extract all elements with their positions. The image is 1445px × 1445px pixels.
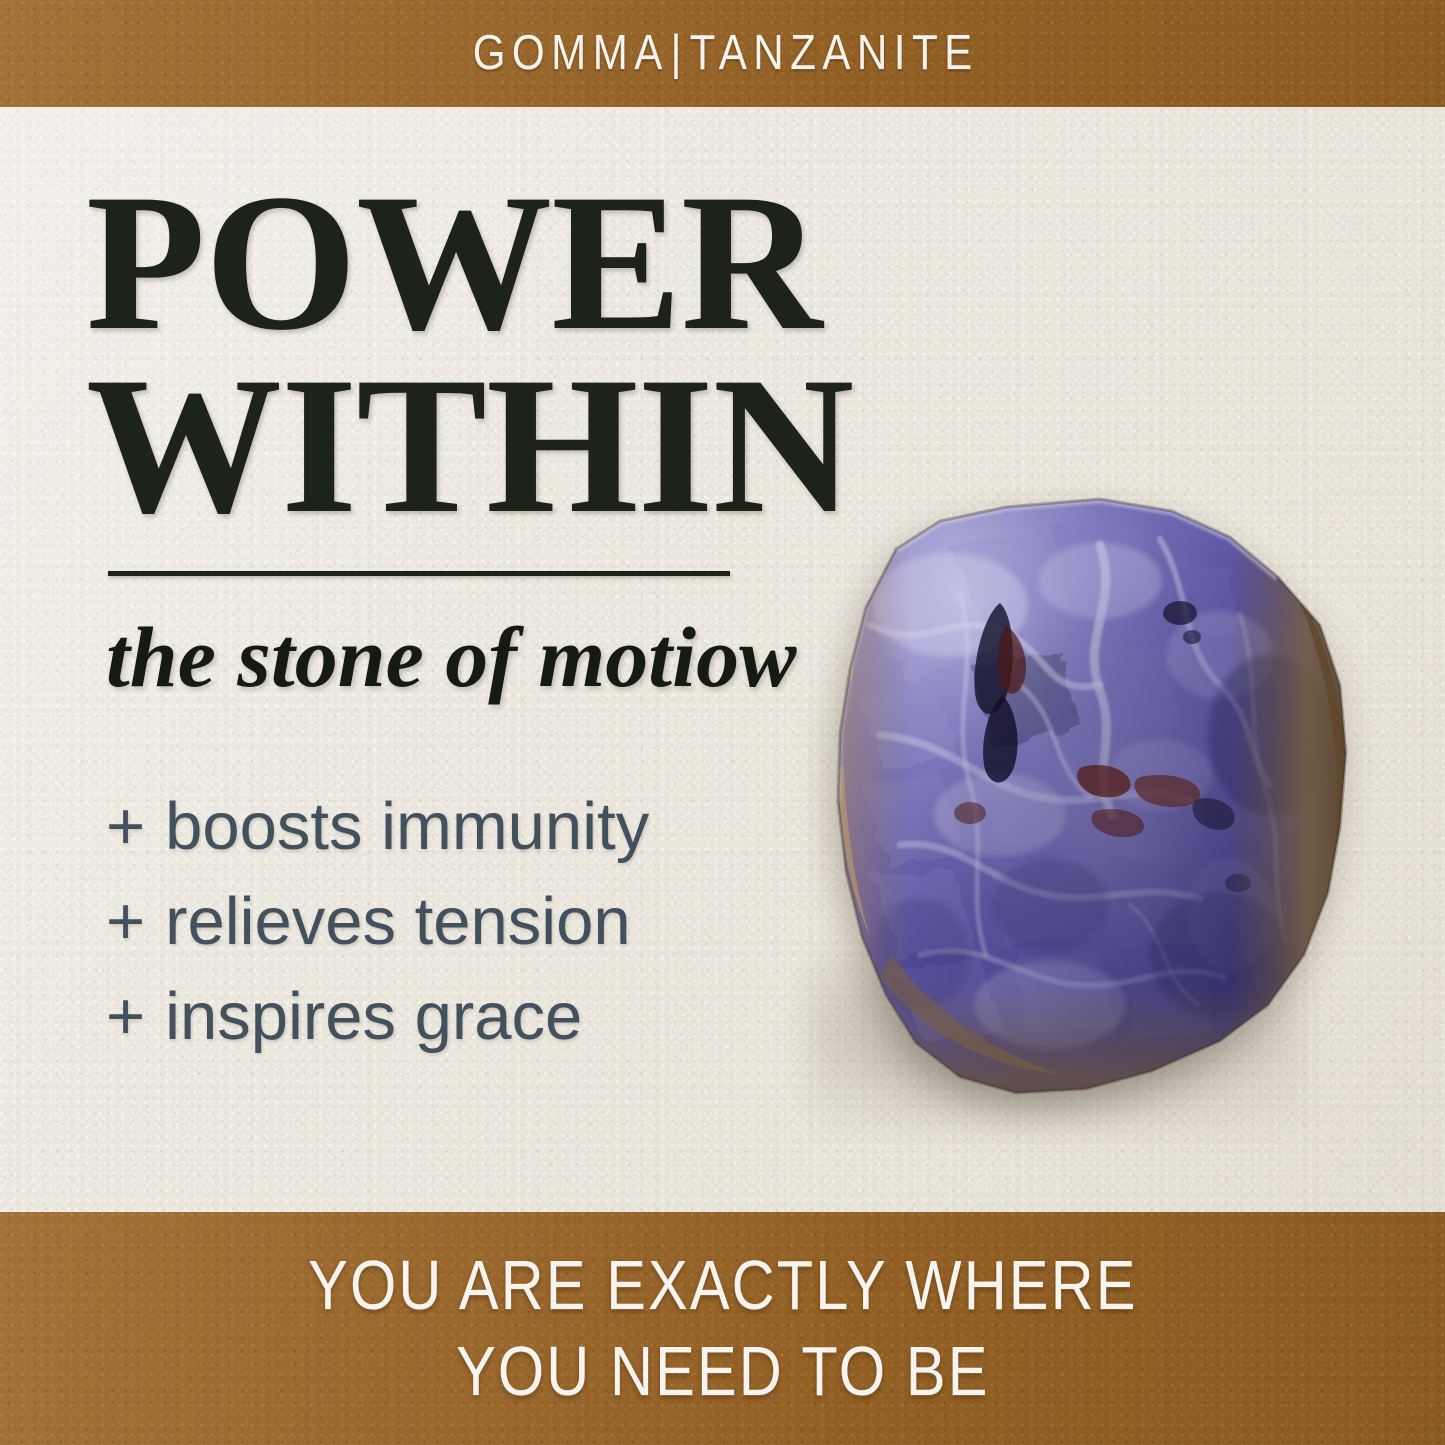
list-item: + inspires grace	[106, 969, 649, 1064]
benefit-label: relieves tension	[165, 874, 631, 969]
tagline: the stone of motiow	[106, 607, 796, 707]
list-item: + boosts immunity	[106, 779, 649, 874]
headline-divider-rule	[108, 571, 730, 576]
headline-line-two: WITHIN	[86, 362, 846, 531]
main-content: POWER WITHIN the stone of motiow + boost…	[0, 107, 1445, 1212]
benefit-label: inspires grace	[165, 969, 582, 1064]
gemstone-figure	[800, 485, 1370, 1145]
header-band: GOMMA|TANZANITE	[0, 0, 1445, 107]
brand-name: GOMMA	[473, 26, 669, 80]
footer-band: YOU ARE EXACTLY WHERE YOU NEED TO BE	[0, 1212, 1445, 1445]
plus-icon: +	[106, 779, 145, 874]
headline-line-one: POWER	[86, 179, 846, 348]
poster-canvas: GOMMA|TANZANITE POWER WITHIN the stone o…	[0, 0, 1445, 1445]
brand-separator: |	[669, 26, 690, 80]
benefits-list: + boosts immunity + relieves tension + i…	[106, 779, 649, 1064]
product-name: TANZANITE	[689, 26, 978, 80]
list-item: + relieves tension	[106, 874, 649, 969]
footer-line-one: YOU ARE EXACTLY WHERE	[308, 1243, 1137, 1328]
plus-icon: +	[106, 969, 145, 1064]
tanzanite-crystal-image	[800, 485, 1370, 1145]
plus-icon: +	[106, 874, 145, 969]
headline-block: POWER WITHIN	[86, 179, 846, 530]
benefit-label: boosts immunity	[165, 779, 649, 874]
footer-line-two: YOU NEED TO BE	[456, 1329, 989, 1414]
brand-header: GOMMA|TANZANITE	[466, 29, 978, 78]
